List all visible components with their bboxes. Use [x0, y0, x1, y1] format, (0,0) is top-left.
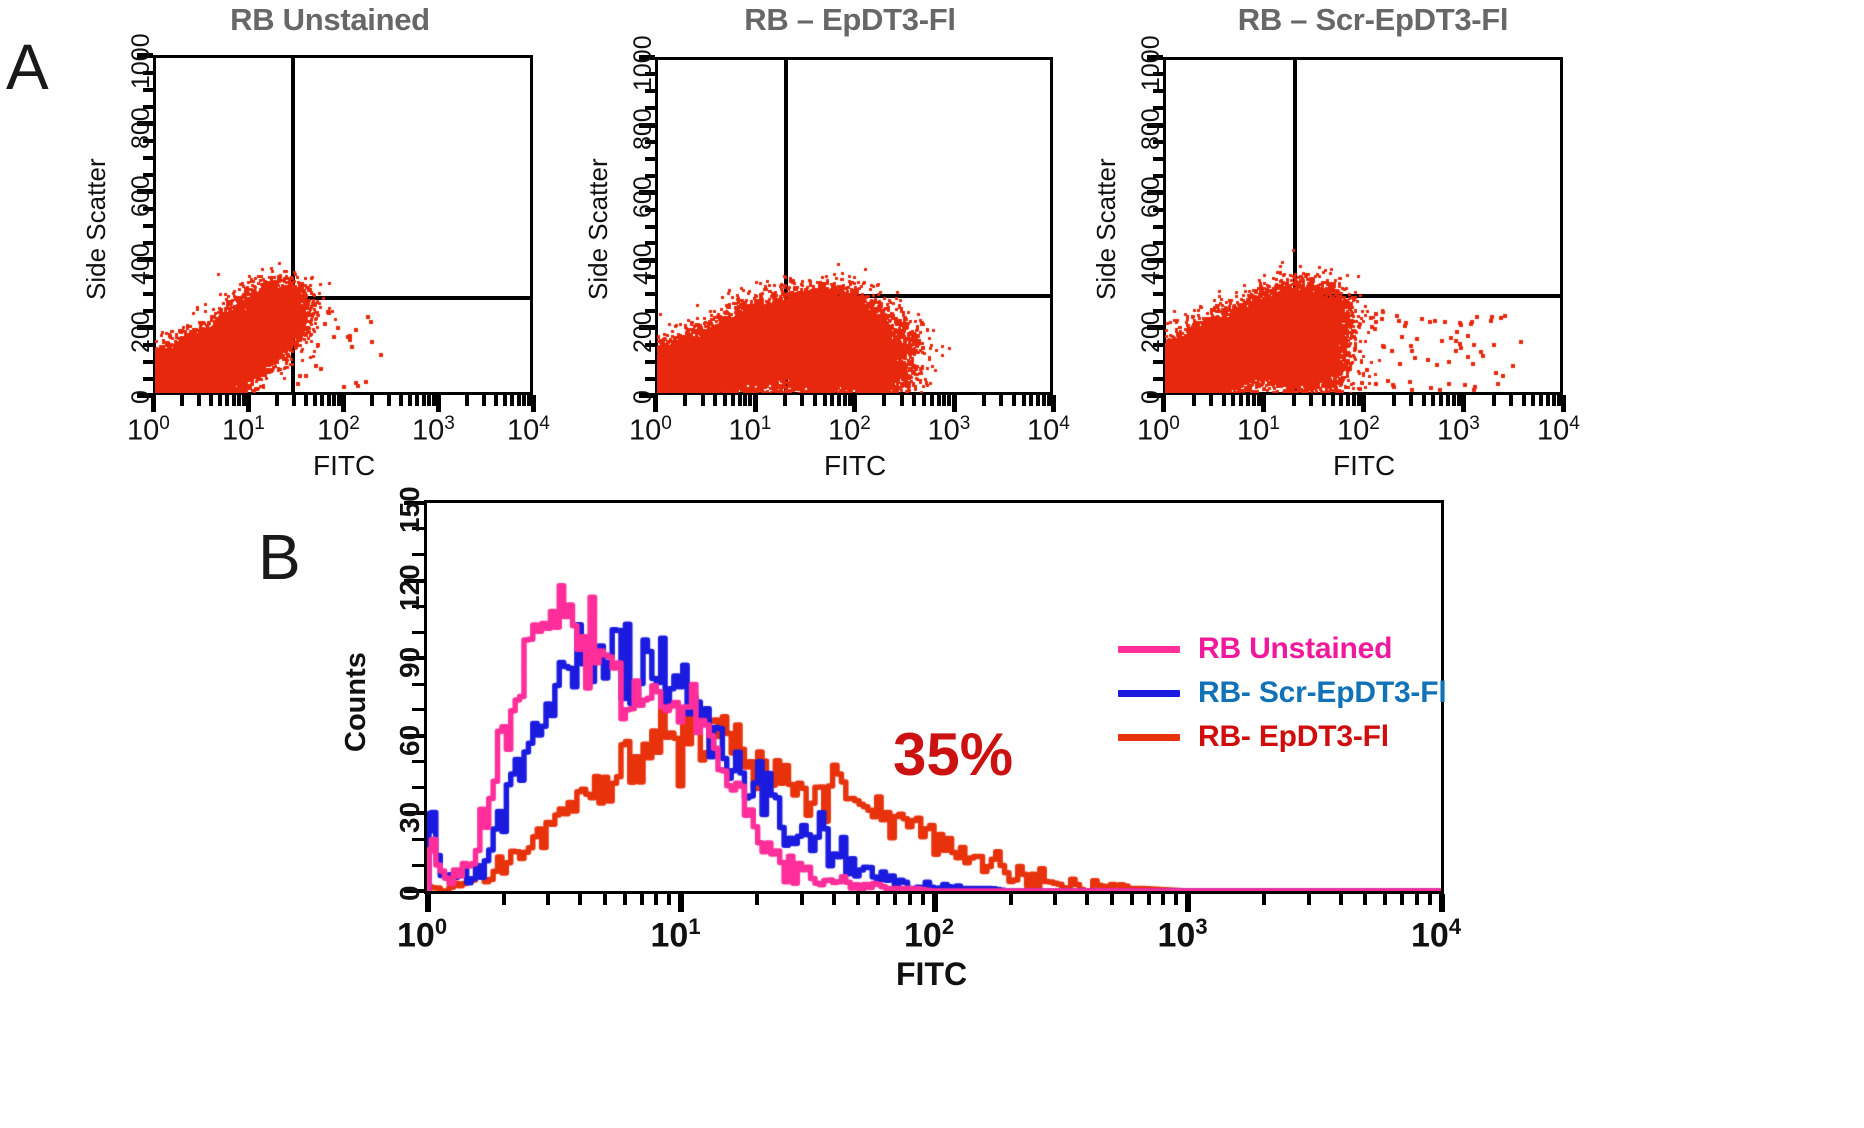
- legend-item-epdt3: RB- EpDT3-Fl: [1118, 718, 1446, 756]
- dotplot-2-xtick-minor: [723, 395, 727, 406]
- hist-ytick-minor: [412, 683, 424, 686]
- dotplot-1-xtick-minor: [465, 395, 469, 406]
- dotplot-1-scatter-cloud: [155, 57, 531, 393]
- dotplot-2-ytick-minor: [645, 157, 655, 161]
- dotplot-3-ytick-minor: [1153, 292, 1163, 296]
- hist-ytick-minor: [412, 708, 424, 711]
- hist-ytick-label-60: 60: [394, 725, 426, 756]
- dotplot-1-xtick-minor: [218, 395, 222, 406]
- dotplot-1-ytick-minor: [143, 377, 153, 381]
- hist-xtick-minor: [1363, 894, 1367, 905]
- dotplot-2-scatter-cloud: [657, 59, 1051, 393]
- dotplot-1-xtick-minor: [510, 395, 514, 406]
- dotplot-2-ytick-minor: [645, 174, 655, 178]
- dotplot-1-xtick-minor: [387, 395, 391, 406]
- dotplot-2-xtick-minor: [701, 395, 705, 406]
- hist-xtick-minor: [876, 894, 880, 905]
- legend-item-unstained: RB Unstained: [1118, 630, 1446, 668]
- hist-xtick-minor: [640, 894, 644, 905]
- dotplot-2-xtick-minor: [743, 395, 747, 406]
- dotplot-2-xtick-minor: [930, 395, 934, 406]
- hist-ytick-minor: [412, 786, 424, 789]
- dotplot-title-3: RB – Scr-EpDT3-Fl: [1093, 2, 1653, 38]
- dotplot-1-ytick-minor: [143, 173, 153, 177]
- hist-xtick-minor: [1400, 894, 1404, 905]
- dotplot-1-xtick-minor: [237, 395, 241, 406]
- hist-ylabel: Counts: [340, 652, 373, 752]
- dotplot-3-ytick-label-400: 400: [1137, 244, 1166, 286]
- hist-xtick-minor: [1053, 894, 1057, 905]
- hist-xtick-major-0: [425, 894, 431, 912]
- hist-xtick-major-3: [1185, 894, 1191, 912]
- hist-xtick-minor: [1110, 894, 1114, 905]
- hist-xtick-label-2: 102: [904, 914, 954, 955]
- dotplot-3-ytick-label-600: 600: [1137, 176, 1166, 218]
- hist-xtick-minor: [546, 894, 550, 905]
- dotplot-2-ytick-label-1000: 1000: [629, 35, 658, 91]
- dotplot-2-xtick-minor: [837, 395, 841, 406]
- dotplot-1-ytick-label-400: 400: [127, 243, 156, 285]
- dotplot-3-xtick-minor: [1452, 395, 1456, 406]
- percent-annotation: 35%: [893, 720, 1013, 789]
- dotplot-3-xtick-major-4: [1561, 395, 1566, 412]
- dotplot-3-xlabel: FITC: [1333, 450, 1395, 482]
- dotplot-2-ytick-minor: [645, 360, 655, 364]
- dotplot-1-xtick-minor: [197, 395, 201, 406]
- hist-ytick-minor: [412, 838, 424, 841]
- dotplot-2-xtick-minor: [713, 395, 717, 406]
- hist-xtick-minor: [893, 894, 897, 905]
- dotplot-3-xtick-minor: [1222, 395, 1226, 406]
- dotplot-2-ytick-minor: [645, 309, 655, 313]
- hist-xtick-minor: [1147, 894, 1151, 905]
- hist-xtick-minor: [1307, 894, 1311, 905]
- dotplot-3-xtick-label-4: 104: [1537, 413, 1580, 448]
- dotplot-1-xtick-minor: [503, 395, 507, 406]
- hist-xlabel: FITC: [896, 956, 967, 993]
- dotplot-1-xtick-minor: [408, 395, 412, 406]
- dotplot-1-ytick-minor: [143, 241, 153, 245]
- legend-label-epdt3: RB- EpDT3-Fl: [1198, 720, 1389, 754]
- hist-xtick-minor: [1428, 894, 1432, 905]
- dotplot-1-xtick-minor: [517, 395, 521, 406]
- dotplot-3-xtick-minor: [1252, 395, 1256, 406]
- dotplot-1-xtick-minor: [232, 395, 236, 406]
- legend-item-scr-epdt3: RB- Scr-EpDT3-Fl: [1118, 674, 1446, 712]
- panel-letter-b: B: [258, 520, 301, 594]
- hist-xtick-minor: [1174, 894, 1178, 905]
- dotplot-3-ytick-label-800: 800: [1137, 108, 1166, 150]
- dotplot-2-xtick-minor: [843, 395, 847, 406]
- legend-swatch-epdt3: [1118, 734, 1180, 741]
- dotplot-3-ytick-minor: [1153, 360, 1163, 364]
- dotplot-1-xtick-minor: [522, 395, 526, 406]
- dotplot-title-2: RB – EpDT3-Fl: [580, 2, 1120, 38]
- dotplot-1-xtick-minor: [494, 395, 498, 406]
- dotplot-2-xtick-minor: [738, 395, 742, 406]
- dotplot-1-xtick-minor: [370, 395, 374, 406]
- dotplot-1-xtick-minor: [332, 395, 336, 406]
- dotplot-3-xtick-minor: [1192, 395, 1196, 406]
- legend-label-scr-epdt3: RB- Scr-EpDT3-Fl: [1198, 676, 1446, 710]
- dotplot-2-ytick-minor: [645, 241, 655, 245]
- dotplot-2-xtick-major-2: [852, 395, 857, 412]
- dotplot-1-ylabel: Side Scatter: [81, 158, 112, 300]
- dotplot-2-xtick-label-2: 102: [828, 413, 871, 448]
- hist-xtick-minor: [921, 894, 925, 905]
- dotplot-3-xtick-minor: [1292, 395, 1296, 406]
- dotplot-1-ytick-label-800: 800: [127, 107, 156, 149]
- dotplot-2-xtick-minor: [1042, 395, 1046, 406]
- dotplot-2-xtick-minor: [882, 395, 886, 406]
- dotplot-1-xtick-minor: [427, 395, 431, 406]
- dotplot-3-xtick-label-1: 101: [1237, 413, 1280, 448]
- dotplot-2-xtick-label-4: 104: [1027, 413, 1070, 448]
- dotplot-2-xtick-major-3: [952, 395, 957, 412]
- dotplot-2-xtick-minor: [942, 395, 946, 406]
- dotplot-3-xtick-minor: [1322, 395, 1326, 406]
- dotplot-1-xtick-minor: [327, 395, 331, 406]
- dotplot-3-xtick-minor: [1439, 395, 1443, 406]
- dotplot-1-xtick-major-1: [246, 395, 251, 412]
- hist-xtick-minor: [908, 894, 912, 905]
- hist-xtick-minor: [1130, 894, 1134, 905]
- dotplot-1-xtick-major-0: [151, 395, 156, 412]
- dotplot-2-xtick-major-1: [753, 395, 758, 412]
- dotplot-3-xtick-minor: [1522, 395, 1526, 406]
- dotplot-2-xtick-minor: [912, 395, 916, 406]
- dotplot-1-xtick-minor: [482, 395, 486, 406]
- hist-xtick-major-2: [932, 894, 938, 912]
- hist-ytick-label-0: 0: [394, 885, 426, 901]
- hist-ytick-minor: [412, 864, 424, 867]
- dotplot-1-xtick-label-2: 102: [317, 413, 360, 448]
- dotplot-1-ytick-label-1000: 1000: [127, 33, 156, 89]
- dotplot-2-ytick-minor: [645, 292, 655, 296]
- hist-xtick-minor: [856, 894, 860, 905]
- dotplot-3-ytick-minor: [1153, 377, 1163, 381]
- dotplot-2-xtick-minor: [813, 395, 817, 406]
- dotplot-1-xtick-major-4: [531, 395, 536, 412]
- dotplot-3-xtick-minor: [1409, 395, 1413, 406]
- dotplot-2-ylabel: Side Scatter: [583, 159, 614, 301]
- dotplot-1-xtick-minor: [320, 395, 324, 406]
- dotplot-1-xtick-major-3: [436, 395, 441, 412]
- dotplot-3-ytick-minor: [1153, 225, 1163, 229]
- hist-xtick-minor: [667, 894, 671, 905]
- dotplot-1-xtick-minor: [422, 395, 426, 406]
- hist-xtick-minor: [1339, 894, 1343, 905]
- dotplot-3-xtick-major-2: [1361, 395, 1366, 412]
- dotplot-1-ytick-label-600: 600: [127, 175, 156, 217]
- dotplot-3-xtick-minor: [1239, 395, 1243, 406]
- dotplot-2-xtick-minor: [1036, 395, 1040, 406]
- dotplot-1-ytick-label-200: 200: [127, 311, 156, 353]
- hist-ytick-label-150: 150: [394, 486, 426, 533]
- dotplot-2-xtick-major-4: [1051, 395, 1056, 412]
- dotplot-2-ytick-minor: [645, 106, 655, 110]
- dotplot-3-ytick-minor: [1153, 106, 1163, 110]
- dotplot-1-xlabel: FITC: [313, 450, 375, 482]
- dotplot-3-xtick-minor: [1531, 395, 1535, 406]
- hist-xtick-major-4: [1439, 894, 1445, 912]
- dotplot-3-xtick-minor: [1309, 395, 1313, 406]
- dotplot-2-xtick-minor: [830, 395, 834, 406]
- dotplot-2-xtick-minor: [1022, 395, 1026, 406]
- hist-xtick-minor: [1085, 894, 1089, 905]
- dotplot-2-xtick-minor: [783, 395, 787, 406]
- dotplot-3-xtick-minor: [1509, 395, 1513, 406]
- dotplot-1-xtick-minor: [225, 395, 229, 406]
- hist-xtick-minor: [654, 894, 658, 905]
- dotplot-2-xtick-minor: [1012, 395, 1016, 406]
- dotplot-2-xtick-minor: [922, 395, 926, 406]
- dotplot-3-ytick-minor: [1153, 241, 1163, 245]
- hist-xtick-minor: [755, 894, 759, 905]
- figure-root: A B RB Unstained RB – EpDT3-Fl RB – Scr-…: [0, 0, 1864, 1128]
- dotplot-1-ytick-minor: [143, 156, 153, 160]
- dotplot-2-ytick-label-600: 600: [629, 176, 658, 218]
- hist-xtick-minor: [800, 894, 804, 905]
- dotplot-2-ytick-minor: [645, 377, 655, 381]
- dotplot-2-ytick-label-200: 200: [629, 311, 658, 353]
- dotplot-2-xtick-label-3: 103: [928, 413, 971, 448]
- dotplot-1-xtick-label-3: 103: [412, 413, 455, 448]
- dotplot-3-xtick-minor: [1539, 395, 1543, 406]
- hist-xtick-minor: [1415, 894, 1419, 905]
- dotplot-3-xtick-minor: [1231, 395, 1235, 406]
- dotplot-1-xtick-minor: [209, 395, 213, 406]
- dotplot-2-xtick-minor: [800, 395, 804, 406]
- hist-xtick-label-1: 101: [651, 914, 701, 955]
- dotplot-2-xtick-minor: [982, 395, 986, 406]
- hist-xtick-minor: [1161, 894, 1165, 905]
- dotplot-3-xtick-minor: [1446, 395, 1450, 406]
- dotplot-2-xtick-minor: [999, 395, 1003, 406]
- hist-ytick-minor: [412, 760, 424, 763]
- dotplot-3-xtick-minor: [1422, 395, 1426, 406]
- hist-xtick-label-0: 100: [397, 914, 447, 955]
- panel-letter-a: A: [6, 30, 49, 104]
- dotplot-1-xtick-minor: [304, 395, 308, 406]
- dotplot-3-xtick-minor: [1492, 395, 1496, 406]
- dotplot-1-xtick-label-4: 104: [507, 413, 550, 448]
- dotplot-2-xtick-minor: [900, 395, 904, 406]
- hist-xtick-minor: [603, 894, 607, 905]
- hist-xtick-minor: [1383, 894, 1387, 905]
- dotplot-3-xtick-minor: [1209, 395, 1213, 406]
- hist-xtick-minor: [623, 894, 627, 905]
- dotplot-1-ytick-minor: [143, 360, 153, 364]
- hist-xtick-minor: [1009, 894, 1013, 905]
- dotplot-1-xtick-minor: [399, 395, 403, 406]
- dotplot-3-scatter-cloud: [1165, 59, 1561, 393]
- dotplot-3-xtick-major-1: [1261, 395, 1266, 412]
- dotplot-2-xlabel: FITC: [824, 450, 886, 482]
- histogram-legend: RB Unstained RB- Scr-EpDT3-Fl RB- EpDT3-…: [1118, 630, 1446, 762]
- dotplot-1-ytick-minor: [143, 292, 153, 296]
- dotplot-2-xtick-label-1: 101: [729, 413, 772, 448]
- dotplot-1-xtick-minor: [313, 395, 317, 406]
- dotplot-2-xtick-major-0: [653, 395, 658, 412]
- dotplot-3-xtick-label-3: 103: [1437, 413, 1480, 448]
- dotplot-3-xtick-label-2: 102: [1337, 413, 1380, 448]
- hist-xtick-minor: [502, 894, 506, 905]
- dotplot-2-xtick-minor: [683, 395, 687, 406]
- dotplot-3-xtick-minor: [1246, 395, 1250, 406]
- dotplot-1-xtick-label-1: 101: [222, 413, 265, 448]
- dotplot-3-xtick-major-3: [1461, 395, 1466, 412]
- hist-xtick-label-4: 104: [1411, 914, 1461, 955]
- dotplot-2-xtick-label-0: 100: [629, 413, 672, 448]
- hist-ytick-minor: [412, 631, 424, 634]
- dotplot-1-xtick-minor: [292, 395, 296, 406]
- dotplot-1-xtick-minor: [275, 395, 279, 406]
- legend-swatch-scr-epdt3: [1118, 690, 1180, 697]
- dotplot-3-xtick-minor: [1352, 395, 1356, 406]
- hist-xtick-major-1: [678, 894, 684, 912]
- dotplot-3-ytick-minor: [1153, 174, 1163, 178]
- dotplot-3-xtick-minor: [1431, 395, 1435, 406]
- dotplot-3-xtick-minor: [1552, 395, 1556, 406]
- dotplot-1-xtick-minor: [180, 395, 184, 406]
- hist-xtick-minor: [578, 894, 582, 905]
- dotplot-3-ytick-minor: [1153, 157, 1163, 161]
- dotplot-3-ytick-label-1000: 1000: [1137, 35, 1166, 91]
- hist-ytick-label-30: 30: [394, 802, 426, 833]
- dotplot-3-ytick-label-200: 200: [1137, 311, 1166, 353]
- dotplot-3-xtick-minor: [1339, 395, 1343, 406]
- hist-xtick-minor: [1262, 894, 1266, 905]
- dotplot-3-xtick-major-0: [1161, 395, 1166, 412]
- dotplot-2-ytick-label-400: 400: [629, 244, 658, 286]
- dotplot-3-xtick-minor: [1392, 395, 1396, 406]
- dotplot-2-xtick-minor: [937, 395, 941, 406]
- dotplot-3-ytick-minor: [1153, 309, 1163, 313]
- dotplot-1-ytick-minor: [143, 105, 153, 109]
- dotplot-1-xtick-minor: [415, 395, 419, 406]
- dotplot-2-xtick-minor: [823, 395, 827, 406]
- dotplot-2-ytick-minor: [645, 225, 655, 229]
- dotplot-1-xtick-major-2: [341, 395, 346, 412]
- dotplot-3-xtick-minor: [1331, 395, 1335, 406]
- legend-swatch-unstained: [1118, 646, 1180, 653]
- dotplot-3-xtick-minor: [1546, 395, 1550, 406]
- dotplot-2-xtick-minor: [1029, 395, 1033, 406]
- legend-label-unstained: RB Unstained: [1198, 632, 1392, 666]
- dotplot-3-xtick-minor: [1346, 395, 1350, 406]
- dotplot-1-ytick-minor: [143, 224, 153, 228]
- dotplot-2-ytick-label-800: 800: [629, 108, 658, 150]
- hist-ytick-label-90: 90: [394, 647, 426, 678]
- hist-xtick-label-3: 103: [1158, 914, 1208, 955]
- hist-ytick-minor: [412, 553, 424, 556]
- dotplot-3-xtick-label-0: 100: [1137, 413, 1180, 448]
- hist-ytick-label-120: 120: [394, 564, 426, 611]
- hist-xtick-minor: [832, 894, 836, 905]
- dotplot-3-ylabel: Side Scatter: [1091, 159, 1122, 301]
- dotplot-1-ytick-minor: [143, 309, 153, 313]
- dotplot-1-xtick-label-0: 100: [127, 413, 170, 448]
- dotplot-2-xtick-minor: [731, 395, 735, 406]
